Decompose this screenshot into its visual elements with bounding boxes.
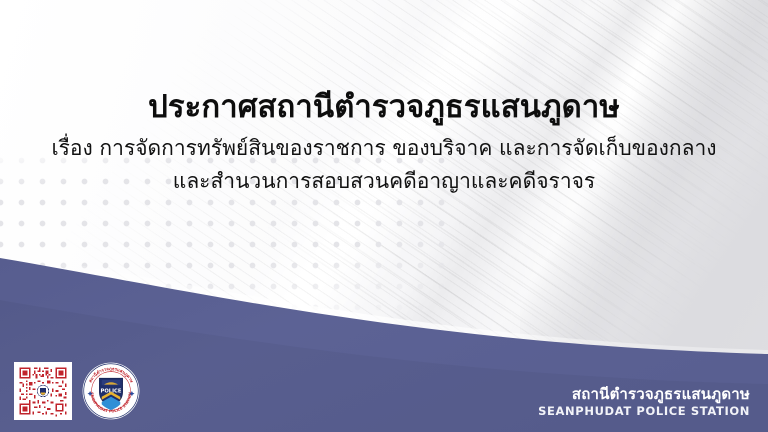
bottom-left-marks: สถานีตำรวจภูธรแสนภูดาษ SEANPHUDAT POLICE… <box>14 362 140 420</box>
qr-code-icon[interactable] <box>14 362 72 420</box>
police-badge-logo-icon[interactable]: สถานีตำรวจภูธรแสนภูดาษ SEANPHUDAT POLICE… <box>82 362 140 420</box>
subject-line-2: และสำนวนการสอบสวนคดีอาญาและคดีจราจร <box>0 165 768 198</box>
page-title: ประกาศสถานีตำรวจภูธรแสนภูดาษ <box>0 88 768 128</box>
announcement-slide: ประกาศสถานีตำรวจภูธรแสนภูดาษ เรื่อง การจ… <box>0 0 768 432</box>
subject-line-1: เรื่อง การจัดการทรัพย์สินของราชการ ของบร… <box>0 132 768 165</box>
footer-org-english: SEANPHUDAT POLICE STATION <box>538 405 750 418</box>
qr-center-badge-icon <box>35 383 50 398</box>
footer-org-thai: สถานีตำรวจภูธรแสนภูดาษ <box>538 386 750 403</box>
footer-brand: สถานีตำรวจภูธรแสนภูดาษ SEANPHUDAT POLICE… <box>538 386 750 418</box>
headline-block: ประกาศสถานีตำรวจภูธรแสนภูดาษ เรื่อง การจ… <box>0 88 768 198</box>
